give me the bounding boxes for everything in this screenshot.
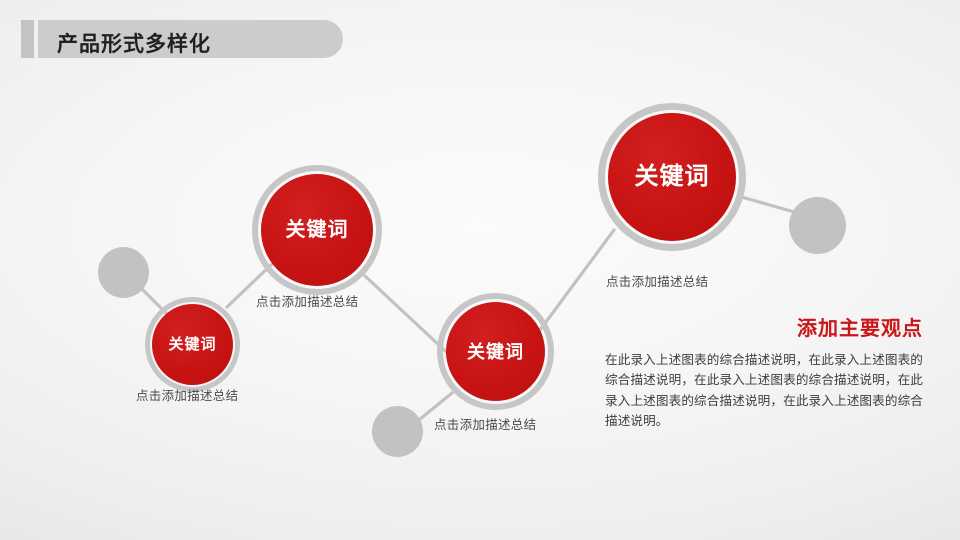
connector-node3-node4 (540, 230, 614, 330)
gray-dot-bottom (372, 406, 423, 457)
keyword-node-4-label: 关键词 (635, 165, 710, 189)
side-panel-body: 在此录入上述图表的综合描述说明，在此录入上述图表的综合描述说明，在此录入上述图表… (605, 350, 923, 432)
keyword-node-3-label: 关键词 (467, 343, 524, 361)
side-text-panel: 添加主要观点 在此录入上述图表的综合描述说明，在此录入上述图表的综合描述说明，在… (605, 318, 923, 432)
keyword-node-2[interactable]: 关键词 (261, 174, 373, 286)
node-caption-3: 点击添加描述总结 (434, 414, 536, 433)
keyword-node-3[interactable]: 关键词 (446, 302, 545, 401)
keyword-node-1-label: 关键词 (168, 337, 216, 352)
node-caption-4: 点击添加描述总结 (606, 271, 708, 290)
keyword-node-2-label: 关键词 (286, 220, 349, 240)
gray-dot-left (98, 247, 149, 298)
slide-canvas: 产品形式多样化 关键词 点击添加描述总结 关键词 点击添加描述总结 关键词 点击… (0, 0, 960, 540)
keyword-node-1[interactable]: 关键词 (152, 304, 233, 385)
connector-node4-dotright (738, 196, 798, 213)
keyword-node-4[interactable]: 关键词 (608, 113, 736, 241)
side-panel-heading: 添加主要观点 (605, 318, 923, 340)
gray-dot-right (789, 197, 846, 254)
node-caption-2: 点击添加描述总结 (256, 291, 358, 310)
node-caption-1: 点击添加描述总结 (136, 385, 238, 404)
